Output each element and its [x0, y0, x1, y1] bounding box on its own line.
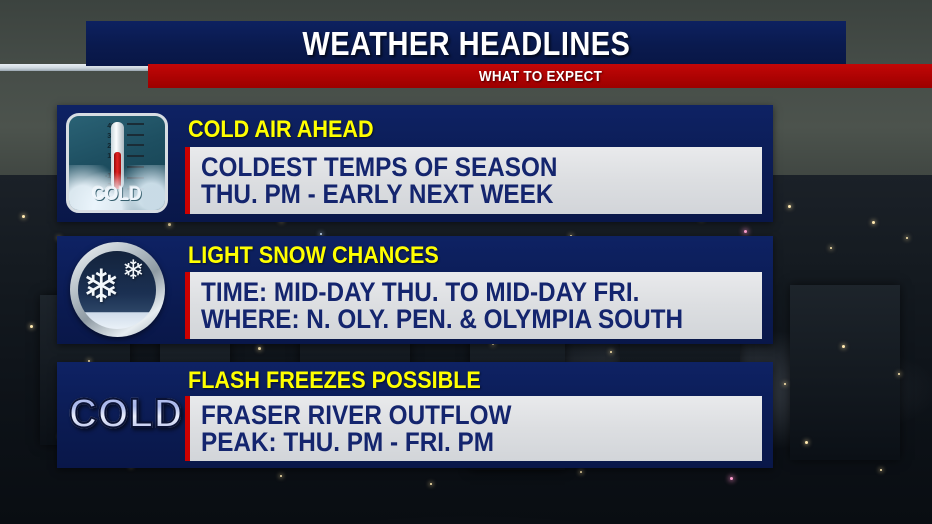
panel-detail-line: WHERE: N. OLY. PEN. & OLYMPIA SOUTH [201, 306, 706, 333]
page-subtitle: WHAT TO EXPECT [478, 68, 601, 85]
headline-panel-cold-air-ahead: 40 30 20 10 0 -10 -20 COLD COLD AIR AHEA… [57, 105, 773, 222]
panel-detail-box: TIME: MID-DAY THU. TO MID-DAY FRI. WHERE… [185, 272, 762, 339]
thermometer-cold-label: COLD [73, 184, 161, 206]
panel-detail-box: FRASER RIVER OUTFLOW PEAK: THU. PM - FRI… [185, 396, 762, 461]
cold-word-icon: COLD [66, 380, 184, 446]
panel-headline: LIGHT SNOW CHANCES [188, 242, 439, 270]
panel-detail-line: COLDEST TEMPS OF SEASON [201, 154, 706, 181]
snowflake-glyph: ❄ [122, 257, 145, 284]
snowflake-glyph: ❄ [82, 263, 121, 309]
city-skyline [0, 175, 932, 524]
panel-detail-box: COLDEST TEMPS OF SEASON THU. PM - EARLY … [185, 147, 762, 214]
main-title-banner: WEATHER HEADLINES [86, 21, 846, 66]
thermometer-cold-icon: 40 30 20 10 0 -10 -20 COLD [66, 113, 168, 213]
panel-headline: COLD AIR AHEAD [188, 116, 374, 144]
city-lights [0, 175, 932, 524]
cold-word-label: COLD [69, 390, 181, 437]
headline-panel-light-snow-chances: ❄ ❄ LIGHT SNOW CHANCES TIME: MID-DAY THU… [57, 236, 773, 344]
snowflake-badge-icon: ❄ ❄ [66, 241, 168, 338]
panel-detail-line: PEAK: THU. PM - FRI. PM [201, 429, 706, 456]
headline-panel-flash-freezes-possible: COLD FLASH FREEZES POSSIBLE FRASER RIVER… [57, 362, 773, 468]
panel-detail-line: FRASER RIVER OUTFLOW [201, 402, 706, 429]
page-title: WEATHER HEADLINES [302, 25, 630, 63]
panel-detail-line: TIME: MID-DAY THU. TO MID-DAY FRI. [201, 279, 706, 306]
panel-detail-line: THU. PM - EARLY NEXT WEEK [201, 181, 706, 208]
subtitle-banner: WHAT TO EXPECT [148, 64, 932, 88]
panel-headline: FLASH FREEZES POSSIBLE [188, 367, 481, 395]
